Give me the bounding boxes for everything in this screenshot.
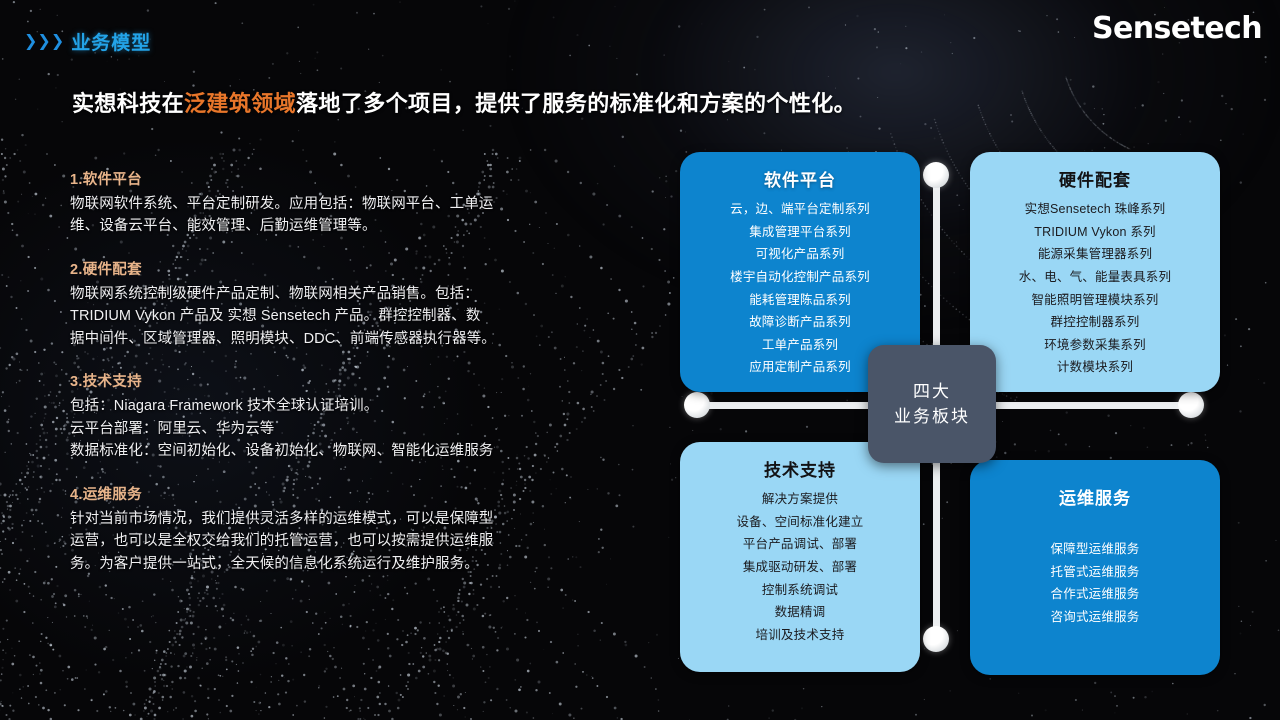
list-item: 托管式运维服务 [1051,562,1140,583]
card-item-list: 解决方案提供 设备、空间标准化建立 平台产品调试、部署 集成驱动研发、部署 控制… [736,489,863,645]
text-block-title: 4.运维服务 [70,483,570,504]
text-line: TRIDIUM Vykon 产品及 实想 Sensetech 产品。群控控制器、… [70,305,570,327]
card-title: 运维服务 [1059,484,1131,509]
section-tag: ❯❯❯ 业务模型 [24,28,151,55]
card-title: 软件平台 [764,166,836,191]
list-item: 咨询式运维服务 [1051,607,1140,628]
text-block-title: 3.技术支持 [70,370,570,391]
brand-logo: Sensetech [1092,11,1262,46]
list-item: TRIDIUM Vykon 系列 [1034,222,1156,243]
list-item: 水、电、气、能量表具系列 [1019,267,1171,288]
list-item: 环境参数采集系列 [1044,335,1146,356]
list-item: 群控控制器系列 [1051,312,1140,333]
list-item: 解决方案提供 [762,489,838,510]
diagram-hub[interactable]: 四大 业务板块 [868,345,996,463]
card-hardware-package[interactable]: 硬件配套 实想Sensetech 珠峰系列 TRIDIUM Vykon 系列 能… [970,152,1220,392]
text-line: 数据标准化：空间初始化、设备初始化、物联网、智能化运维服务 [70,440,570,462]
list-item: 可视化产品系列 [756,244,845,265]
list-item: 故障诊断产品系列 [749,312,851,333]
headline-before: 实想科技在 [72,91,184,116]
card-item-list: 云，边、端平台定制系列 集成管理平台系列 可视化产品系列 楼宇自动化控制产品系列… [730,199,870,378]
text-block: 1.软件平台 物联网软件系统、平台定制研发。应用包括：物联网平台、工单运 维、设… [70,168,570,238]
list-item: 楼宇自动化控制产品系列 [730,267,870,288]
list-item: 合作式运维服务 [1051,584,1140,605]
text-line: 云平台部署：阿里云、华为云等 [70,418,570,440]
hub-line-2: 业务板块 [894,404,970,430]
text-block-title: 1.软件平台 [70,168,570,189]
triple-chevron-right-icon: ❯❯❯ [24,34,62,50]
connector-line-top [933,174,940,374]
connector-line-bottom [933,450,940,640]
headline-highlight: 泛建筑领域 [184,91,296,116]
list-item: 工单产品系列 [762,335,838,356]
list-item: 平台产品调试、部署 [743,534,857,555]
connector-node-left [684,392,710,418]
connector-node-top [923,162,949,188]
list-item: 数据精调 [775,602,826,623]
text-line: 维、设备云平台、能效管理、后勤运维管理等。 [70,215,570,237]
connector-node-right [1178,392,1204,418]
headline-after: 落地了多个项目，提供了服务的标准化和方案的个性化。 [296,91,856,116]
text-block: 2.硬件配套 物联网系统控制级硬件产品定制、物联网相关产品销售。包括： TRID… [70,258,570,350]
list-item: 培训及技术支持 [756,625,845,646]
text-line: 运营，也可以是全权交给我们的托管运营，也可以按需提供运维服 [70,530,570,552]
list-item: 保障型运维服务 [1051,539,1140,560]
text-line: 物联网软件系统、平台定制研发。应用包括：物联网平台、工单运 [70,193,570,215]
list-item: 能耗管理陈品系列 [749,290,851,311]
text-block-body: 包括：Niagara Framework 技术全球认证培训。 云平台部署：阿里云… [70,395,570,462]
text-block: 3.技术支持 包括：Niagara Framework 技术全球认证培训。 云平… [70,370,570,462]
list-item: 能源采集管理器系列 [1038,244,1152,265]
text-block-title: 2.硬件配套 [70,258,570,279]
hub-line-1: 四大 [913,379,951,405]
text-line: 针对当前市场情况，我们提供灵活多样的运维模式，可以是保障型 [70,508,570,530]
list-item: 实想Sensetech 珠峰系列 [1025,199,1166,220]
card-title: 硬件配套 [1059,166,1131,191]
card-item-list: 保障型运维服务 托管式运维服务 合作式运维服务 咨询式运维服务 [1051,539,1140,628]
four-sectors-diagram: 软件平台 云，边、端平台定制系列 集成管理平台系列 可视化产品系列 楼宇自动化控… [640,130,1240,690]
connector-node-bottom [923,626,949,652]
list-item: 云，边、端平台定制系列 [730,199,870,220]
list-item: 集成驱动研发、部署 [743,557,857,578]
section-tag-label: 业务模型 [71,28,151,55]
list-item: 应用定制产品系列 [749,357,851,378]
list-item: 集成管理平台系列 [749,222,851,243]
card-technical-support[interactable]: 技术支持 解决方案提供 设备、空间标准化建立 平台产品调试、部署 集成驱动研发、… [680,442,920,672]
card-item-list: 实想Sensetech 珠峰系列 TRIDIUM Vykon 系列 能源采集管理… [1019,199,1171,378]
text-line: 物联网系统控制级硬件产品定制、物联网相关产品销售。包括： [70,283,570,305]
list-item: 控制系统调试 [762,580,838,601]
text-line: 包括：Niagara Framework 技术全球认证培训。 [70,395,570,417]
text-line: 务。为客户提供一站式，全天候的信息化系统运行及维护服务。 [70,553,570,575]
text-block-body: 物联网系统控制级硬件产品定制、物联网相关产品销售。包括： TRIDIUM Vyk… [70,283,570,350]
left-text-column: 1.软件平台 物联网软件系统、平台定制研发。应用包括：物联网平台、工单运 维、设… [70,168,570,575]
list-item: 智能照明管理模块系列 [1031,290,1158,311]
text-block: 4.运维服务 针对当前市场情况，我们提供灵活多样的运维模式，可以是保障型 运营，… [70,483,570,575]
page-headline: 实想科技在泛建筑领域落地了多个项目，提供了服务的标准化和方案的个性化。 [72,86,856,118]
card-title: 技术支持 [764,456,836,481]
text-block-body: 物联网软件系统、平台定制研发。应用包括：物联网平台、工单运 维、设备云平台、能效… [70,193,570,238]
list-item: 设备、空间标准化建立 [736,512,863,533]
text-line: 据中间件、区域管理器、照明模块、DDC、前端传感器执行器等。 [70,328,570,350]
list-item: 计数模块系列 [1057,357,1133,378]
text-block-body: 针对当前市场情况，我们提供灵活多样的运维模式，可以是保障型 运营，也可以是全权交… [70,508,570,575]
card-operations-service[interactable]: 运维服务 保障型运维服务 托管式运维服务 合作式运维服务 咨询式运维服务 [970,460,1220,675]
